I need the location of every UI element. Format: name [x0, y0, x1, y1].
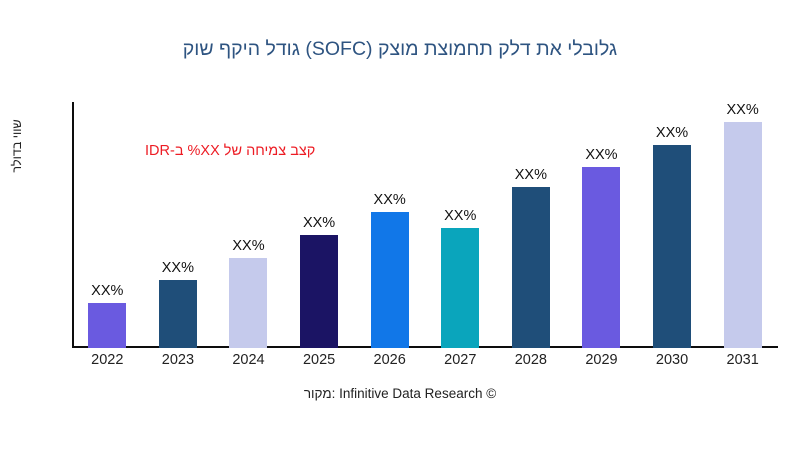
x-tick-2026: 2026 [355, 352, 425, 376]
bar-value-label: XX% [72, 283, 142, 299]
chart-title: גלובלי את דלק תחמוצת מוצק (SOFC) גודל הי… [0, 38, 800, 61]
x-axis-tick-labels: 2022202320242025202620272028202920302031 [72, 352, 778, 376]
bar-2029[interactable] [582, 167, 620, 348]
bar-value-label: XX% [284, 215, 354, 231]
x-tick-2024: 2024 [213, 352, 283, 376]
bar-2025[interactable] [300, 235, 338, 348]
bar-series: XX%XX%XX%XX%XX%XX%XX%XX%XX%XX% [72, 102, 778, 348]
bar-value-label: XX% [143, 260, 213, 276]
bar-slot: XX% [708, 102, 778, 348]
x-tick-2028: 2028 [496, 352, 566, 376]
bar-value-label: XX% [496, 167, 566, 183]
bar-2023[interactable] [159, 280, 197, 348]
bar-slot: XX% [284, 102, 354, 348]
bar-value-label: XX% [425, 208, 495, 224]
bar-value-label: XX% [637, 125, 707, 141]
bar-value-label: XX% [566, 147, 636, 163]
bar-value-label: XX% [708, 102, 778, 118]
bar-slot: XX% [143, 102, 213, 348]
x-tick-2027: 2027 [425, 352, 495, 376]
y-axis-label: שווי בדולר [10, 91, 24, 201]
x-tick-2025: 2025 [284, 352, 354, 376]
bar-slot: XX% [566, 102, 636, 348]
x-tick-2023: 2023 [143, 352, 213, 376]
bar-slot: XX% [355, 102, 425, 348]
bar-value-label: XX% [355, 192, 425, 208]
bar-2031[interactable] [724, 122, 762, 348]
source-caption: © Infinitive Data Research :מקור [0, 386, 800, 401]
x-tick-2031: 2031 [708, 352, 778, 376]
bar-2022[interactable] [88, 303, 126, 348]
bar-value-label: XX% [213, 238, 283, 254]
bar-2024[interactable] [229, 258, 267, 348]
x-tick-2030: 2030 [637, 352, 707, 376]
bar-2030[interactable] [653, 145, 691, 348]
x-tick-2029: 2029 [566, 352, 636, 376]
bar-2028[interactable] [512, 187, 550, 348]
chart-container: גלובלי את דלק תחמוצת מוצק (SOFC) גודל הי… [0, 0, 800, 450]
bar-slot: XX% [425, 102, 495, 348]
bar-2026[interactable] [371, 212, 409, 348]
bar-slot: XX% [72, 102, 142, 348]
bar-slot: XX% [637, 102, 707, 348]
x-tick-2022: 2022 [72, 352, 142, 376]
bar-slot: XX% [213, 102, 283, 348]
bar-2027[interactable] [441, 228, 479, 348]
bar-slot: XX% [496, 102, 566, 348]
